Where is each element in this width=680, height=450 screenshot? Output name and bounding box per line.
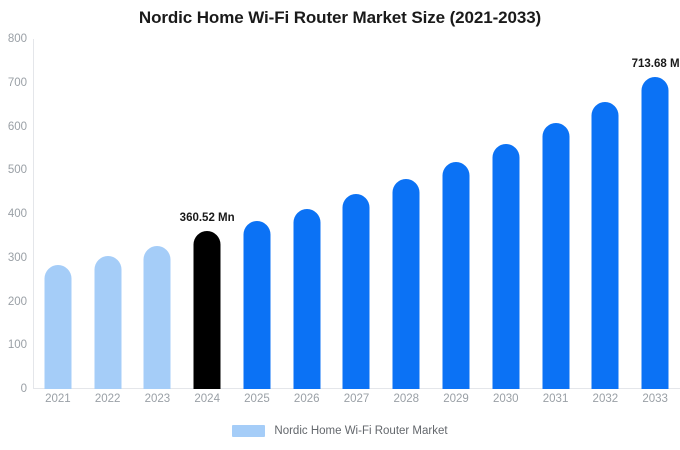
x-axis-tick-2026: 2026 bbox=[294, 393, 320, 405]
x-axis-tick-2027: 2027 bbox=[344, 393, 370, 405]
bar-2023[interactable] bbox=[144, 246, 171, 389]
y-axis-tick-100: 100 bbox=[8, 339, 27, 351]
legend-swatch-icon bbox=[232, 425, 265, 437]
y-axis-tick-300: 300 bbox=[8, 252, 27, 264]
y-axis-tick-200: 200 bbox=[8, 296, 27, 308]
x-axis-tick-2031: 2031 bbox=[543, 393, 569, 405]
bar-group-2027[interactable] bbox=[332, 39, 382, 389]
chart-title: Nordic Home Wi-Fi Router Market Size (20… bbox=[0, 8, 680, 28]
x-axis-tick-2022: 2022 bbox=[95, 393, 121, 405]
x-axis-tick-2033: 2033 bbox=[642, 393, 668, 405]
bar-group-2025[interactable] bbox=[232, 39, 282, 389]
y-axis-tick-400: 400 bbox=[8, 208, 27, 220]
bar-group-2022[interactable] bbox=[83, 39, 133, 389]
y-axis-tick-700: 700 bbox=[8, 77, 27, 89]
bar-2021[interactable] bbox=[44, 265, 71, 389]
x-axis-tick-labels: 2021202220232024202520262027202820292030… bbox=[33, 393, 680, 413]
bar-2022[interactable] bbox=[94, 256, 121, 389]
bar-group-2021[interactable] bbox=[33, 39, 83, 389]
y-axis-tick-600: 600 bbox=[8, 121, 27, 133]
x-axis-tick-2028: 2028 bbox=[393, 393, 419, 405]
x-axis-tick-2032: 2032 bbox=[593, 393, 619, 405]
bar-value-label-2033: 713.68 Mn bbox=[632, 58, 680, 70]
bar-chart: Nordic Home Wi-Fi Router Market Size (20… bbox=[0, 0, 680, 450]
bar-2033[interactable]: 713.68 Mn bbox=[642, 77, 669, 389]
y-axis-tick-800: 800 bbox=[8, 33, 27, 45]
x-axis-tick-2024: 2024 bbox=[194, 393, 220, 405]
legend-item-label: Nordic Home Wi-Fi Router Market bbox=[274, 425, 447, 437]
bar-2024[interactable]: 360.52 Mn bbox=[194, 231, 221, 389]
bar-2025[interactable] bbox=[243, 221, 270, 389]
x-axis-tick-2029: 2029 bbox=[443, 393, 469, 405]
bar-group-2032[interactable] bbox=[580, 39, 630, 389]
y-axis-tick-0: 0 bbox=[21, 383, 27, 395]
bar-group-2030[interactable] bbox=[481, 39, 531, 389]
bar-2032[interactable] bbox=[592, 102, 619, 389]
x-axis-tick-2023: 2023 bbox=[145, 393, 171, 405]
bars-layer: 360.52 Mn713.68 Mn bbox=[33, 39, 680, 389]
bar-2030[interactable] bbox=[492, 144, 519, 389]
bar-2031[interactable] bbox=[542, 123, 569, 389]
bar-group-2028[interactable] bbox=[381, 39, 431, 389]
bar-2028[interactable] bbox=[393, 179, 420, 389]
bar-group-2024[interactable]: 360.52 Mn bbox=[182, 39, 232, 389]
x-axis-tick-2021: 2021 bbox=[45, 393, 71, 405]
bar-group-2026[interactable] bbox=[282, 39, 332, 389]
bar-group-2023[interactable] bbox=[133, 39, 183, 389]
chart-legend: Nordic Home Wi-Fi Router Market bbox=[0, 425, 680, 437]
bar-2029[interactable] bbox=[443, 162, 470, 389]
bar-group-2033[interactable]: 713.68 Mn bbox=[630, 39, 680, 389]
x-axis-tick-2030: 2030 bbox=[493, 393, 519, 405]
bar-2027[interactable] bbox=[343, 194, 370, 389]
y-axis-tick-500: 500 bbox=[8, 164, 27, 176]
bar-2026[interactable] bbox=[293, 209, 320, 389]
plot-area: 0100200300400500600700800 360.52 Mn713.6… bbox=[33, 39, 680, 389]
bar-value-label-2024: 360.52 Mn bbox=[180, 212, 235, 224]
bar-group-2031[interactable] bbox=[531, 39, 581, 389]
bar-group-2029[interactable] bbox=[431, 39, 481, 389]
x-axis-tick-2025: 2025 bbox=[244, 393, 270, 405]
